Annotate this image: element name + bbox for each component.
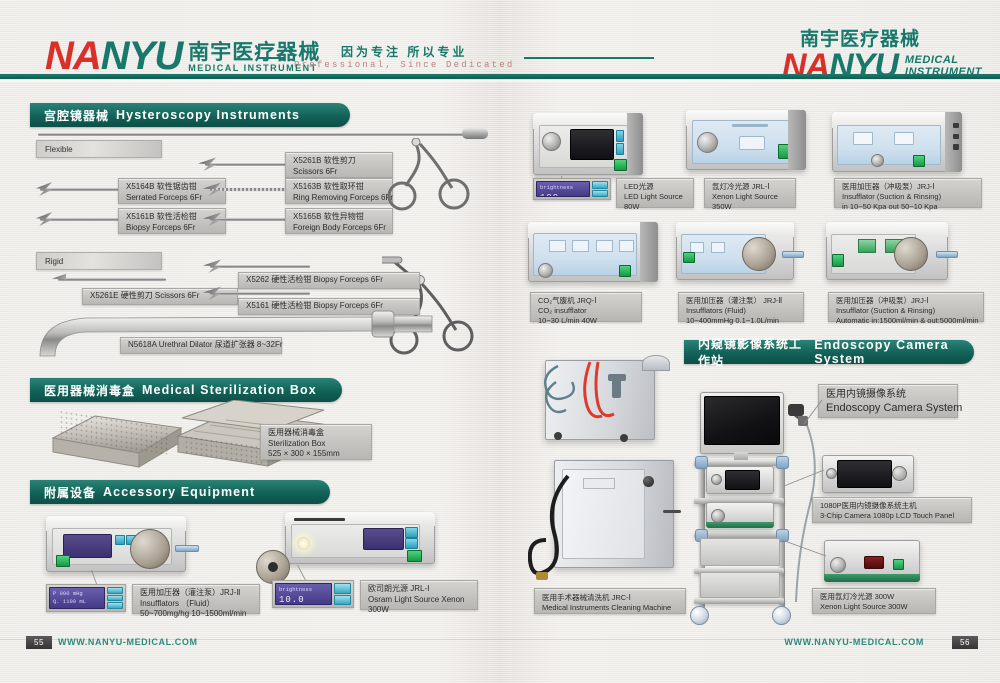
caption-x5262: X5262 硬性活检钳 Biopsy Forceps 6Fr bbox=[238, 272, 420, 289]
cart-caster-left bbox=[690, 606, 709, 625]
cart-empty-shelf-1 bbox=[700, 538, 780, 566]
lcd-line-1: P 000 mHg bbox=[53, 590, 101, 598]
monitor-stand-neck bbox=[734, 452, 748, 460]
caption-sterilization-size: 525 × 300 × 155mm bbox=[268, 449, 364, 460]
caption-cleaning-machine: 医用手术器械清洗机 JRC-Ⅰ Medical Instruments Clea… bbox=[534, 588, 686, 614]
device-button-6 bbox=[616, 143, 625, 155]
lcd-callout-insufflator: P 000 mHg Q. 1100 mL VL 1100 mL bbox=[46, 584, 126, 612]
caption-insuff-suction2-cn: 医用加压器（冲吸泵）JRJ-Ⅰ bbox=[836, 296, 976, 306]
caption-insuff-suction-spec: in 10~50 Kpa out 50~10 Kpa bbox=[842, 202, 974, 212]
co2-readout-4 bbox=[619, 240, 634, 252]
lcd-keys-3[interactable] bbox=[592, 181, 608, 197]
lcd-big-value-1: 10.0 bbox=[279, 594, 328, 605]
caption-x5164b-cn: X5164B 软性锯齿钳 bbox=[126, 182, 218, 193]
caption-osram-cn: 欧司朗光源 JRL-Ⅰ bbox=[368, 584, 470, 595]
device-brand-strip bbox=[294, 518, 345, 521]
slogan-cn: 因为专注 所以专业 bbox=[294, 46, 514, 60]
caption-x5261b-cn: X5261B 软性剪刀 bbox=[293, 156, 385, 167]
caption-xenon-light-source: 氙灯冷光源 JRL-Ⅰ Xenon Light Source 350W bbox=[704, 178, 796, 208]
caption-x5163b-cn: X5163B 软性取环钳 bbox=[293, 182, 385, 193]
device-vent-1 bbox=[953, 123, 960, 128]
device-vent-2 bbox=[953, 134, 960, 139]
brand-en1-right: MEDICAL bbox=[905, 54, 982, 67]
device-power-button-2 bbox=[407, 550, 423, 561]
device-insufflator-suction-2 bbox=[826, 222, 948, 280]
tubing-connector-3 bbox=[936, 251, 958, 258]
section-camera-cn: 内窥镜影像系统工作站 bbox=[698, 335, 807, 369]
slogan-en: Professional, Since Dedicated bbox=[294, 60, 514, 70]
caption-x5163b: X5163B 软性取环钳 Ring Removing Forceps 6Fr bbox=[285, 178, 393, 204]
section-header-accessory: 附属设备 Accessory Equipment bbox=[30, 480, 330, 504]
caption-x5161b-en: Biopsy Forceps 6Fr bbox=[126, 223, 218, 234]
section-sterilization-cn: 医用器械消毒盒 bbox=[44, 382, 135, 399]
caption-insuff-suction-cn: 医用加压器（冲吸泵）JRJ-Ⅰ bbox=[842, 182, 974, 192]
caption-insufflator-fluid-2: 医用加压器（灌注泵） JRJ-Ⅱ Insufflators (Fluid) 10… bbox=[678, 292, 804, 322]
header-rule-highlight bbox=[0, 80, 1000, 82]
device-power-button-3 bbox=[614, 159, 627, 171]
device-screen-2 bbox=[363, 528, 404, 551]
caption-x5161b: X5161B 软性活检钳 Biopsy Forceps 6Fr bbox=[118, 208, 226, 234]
sterilization-box-closed bbox=[45, 410, 185, 472]
slogan-block: 因为专注 所以专业 Professional, Since Dedicated bbox=[258, 46, 654, 70]
lcd-panel-3: brightness 100 bbox=[536, 181, 590, 197]
lcd-panel-1: P 000 mHg Q. 1100 mL VL 1100 mL bbox=[49, 587, 105, 609]
header-rule bbox=[0, 74, 1000, 79]
device-power-button bbox=[56, 555, 71, 567]
adapter-aperture bbox=[268, 562, 278, 572]
device-led-light-source bbox=[533, 113, 643, 175]
caption-cleaning-en: Medical Instruments Cleaning Machine bbox=[542, 603, 678, 613]
caption-x5165b: X5165B 软性异物钳 Foreign Body Forceps 6Fr bbox=[285, 208, 393, 234]
caption-cleaning-cn: 医用手术器械清洗机 JRC-Ⅰ bbox=[542, 593, 678, 603]
section-camera-en: Endoscopy Camera System bbox=[814, 338, 974, 366]
caption-x5164b-en: Serrated Forceps 6Fr bbox=[126, 193, 218, 204]
lcd-callout-osram: brightness 10.0 speed % bbox=[272, 580, 354, 608]
group-label-rigid-text: Rigid bbox=[45, 257, 63, 266]
cart-device-camera-unit bbox=[706, 466, 774, 494]
caption-led-spec: 80W bbox=[624, 202, 686, 212]
lcd-panel-2: brightness 10.0 speed % bbox=[275, 583, 332, 605]
device-power-button-5 bbox=[913, 155, 925, 167]
lcd-callout-led: brightness 100 bbox=[533, 178, 611, 200]
caption-x5261b: X5261B 软性剪刀 Scissors 6Fr bbox=[285, 152, 393, 178]
callout-leader-lines bbox=[780, 400, 980, 620]
co2-readout-3 bbox=[596, 240, 613, 252]
light-guide-adapter bbox=[256, 550, 290, 584]
caption-x5163b-en: Ring Removing Forceps 6Fr bbox=[293, 193, 385, 204]
caption-insufflator-fluid-en: Insufflators （Fluid） bbox=[140, 599, 252, 610]
page-number-left: 55 bbox=[26, 636, 52, 649]
footer-url-right[interactable]: WWW.NANYU-MEDICAL.COM bbox=[784, 637, 924, 647]
catalog-page: NANYU 南宇医疗器械 MEDICAL INSTRUMENT 因为专注 所以专… bbox=[0, 0, 1000, 683]
device-readout-1 bbox=[853, 132, 873, 145]
device-insufflator-suction-1 bbox=[832, 112, 962, 172]
caption-led-cn: LED光源 bbox=[624, 182, 686, 192]
device-screen bbox=[63, 534, 113, 558]
tubing-connector-2 bbox=[782, 251, 804, 258]
cleaning-machine-handle bbox=[663, 510, 681, 513]
instrument-tip-6 bbox=[52, 272, 66, 284]
lcd-big-value-2: 100 bbox=[540, 192, 586, 197]
caption-insufflator-fluid: 医用加压器（灌注泵）JRJ-Ⅱ Insufflators （Fluid） 50~… bbox=[132, 584, 260, 614]
section-accessory-cn: 附属设备 bbox=[44, 484, 96, 501]
device-power-button-6 bbox=[619, 265, 631, 277]
section-sterilization-en: Medical Sterilization Box bbox=[142, 383, 317, 397]
caption-insuff-fluid2-cn: 医用加压器（灌注泵） JRJ-Ⅱ bbox=[686, 296, 796, 306]
caption-led-en: LED Light Source bbox=[624, 192, 686, 202]
cart-empty-shelf-2 bbox=[700, 572, 780, 598]
brand-wordmark-left: NANYU bbox=[45, 36, 182, 76]
device-power-button-8 bbox=[832, 254, 844, 266]
caption-n5618a-text: N5618A Urethral Dilator 尿道扩张器 8~32Fr bbox=[128, 340, 283, 351]
section-accessory-en: Accessory Equipment bbox=[103, 485, 255, 499]
cart-device-green-strip bbox=[706, 522, 774, 528]
light-port-glow bbox=[297, 537, 310, 550]
suction-indicator-1 bbox=[858, 239, 876, 253]
instrument-shaft-3 bbox=[205, 163, 297, 166]
section-header-hysteroscopy: 宫腔镜器械 Hysteroscopy Instruments bbox=[30, 103, 350, 127]
section-hysteroscopy-en: Hysteroscopy Instruments bbox=[116, 108, 300, 122]
page-header: NANYU 南宇医疗器械 MEDICAL INSTRUMENT 因为专注 所以专… bbox=[0, 0, 1000, 80]
cleaning-machine-hoses bbox=[528, 352, 668, 447]
page-number-right: 56 bbox=[952, 636, 978, 649]
lcd-line-2: Q. 1100 mL bbox=[53, 598, 101, 606]
caption-x5161b-cn: X5161B 软性活检钳 bbox=[126, 212, 218, 223]
instrument-shaft-8 bbox=[210, 292, 310, 295]
caption-sterilization-box: 医用器械消毒盒 Sterilization Box 525 × 300 × 15… bbox=[260, 424, 372, 460]
caption-x5261b-en: Scissors 6Fr bbox=[293, 167, 385, 178]
slogan-dash-left bbox=[258, 57, 284, 59]
section-hysteroscopy-cn: 宫腔镜器械 bbox=[44, 107, 109, 124]
section-header-camera-system: 内窥镜影像系统工作站 Endoscopy Camera System bbox=[684, 340, 974, 364]
device-knob-3[interactable] bbox=[871, 154, 884, 167]
caption-insuff-suction2-spec: Automatic in:1500ml/min & out:5000ml/min bbox=[836, 316, 976, 326]
caption-co2-spec: 10~30 L/min 40W bbox=[538, 316, 634, 326]
device-knob-2[interactable] bbox=[697, 132, 718, 153]
lcd-keys-2[interactable] bbox=[334, 583, 351, 605]
device-button-4 bbox=[405, 538, 418, 549]
caption-insuff-suction2-en: Insufflator (Suction & Rinsing) bbox=[836, 306, 976, 316]
device-co2-insufflator bbox=[528, 222, 658, 282]
caption-x5164b: X5164B 软性锯齿钳 Serrated Forceps 6Fr bbox=[118, 178, 226, 204]
scope-shaft bbox=[38, 133, 468, 136]
caption-insufflator-fluid-spec: 50~700mg/hg 10~1500ml/min bbox=[140, 609, 252, 620]
caption-osram-light: 欧司朗光源 JRL-Ⅰ Osram Light Source Xenon 300… bbox=[360, 580, 478, 610]
caption-led-light-source: LED光源 LED Light Source 80W bbox=[616, 178, 694, 208]
tubing-connector bbox=[175, 545, 199, 552]
caption-x5165b-en: Foreign Body Forceps 6Fr bbox=[293, 223, 385, 234]
caption-n5618a: N5618A Urethral Dilator 尿道扩张器 8~32Fr bbox=[120, 337, 282, 354]
co2-readout-1 bbox=[549, 240, 566, 252]
caption-co2-insufflator: CO₂气腹机 JRQ-Ⅰ CO₂ insufflator 10~30 L/min… bbox=[530, 292, 642, 322]
group-label-flexible-text: Flexible bbox=[45, 145, 73, 154]
fluid-readout-1 bbox=[690, 242, 704, 253]
device-osram-light-source bbox=[285, 512, 435, 564]
caption-co2-en: CO₂ insufflator bbox=[538, 306, 634, 316]
device-button-3 bbox=[405, 527, 418, 538]
forceps-handle-illustration-1 bbox=[382, 138, 487, 253]
cart-device-light-source bbox=[706, 502, 774, 528]
device-insufflator-fluid bbox=[46, 516, 186, 572]
caption-x5165b-cn: X5165B 软性异物钳 bbox=[293, 212, 385, 223]
fluid-readout-2 bbox=[711, 242, 725, 253]
device-brand-strip-2 bbox=[732, 124, 768, 127]
device-xenon-light-source bbox=[686, 110, 806, 170]
caption-co2-cn: CO₂气腹机 JRQ-Ⅰ bbox=[538, 296, 634, 306]
device-readout-2 bbox=[894, 132, 914, 145]
device-power-button-7 bbox=[683, 252, 694, 263]
lcd-keys-1[interactable] bbox=[107, 587, 123, 609]
instrument-shaft-7 bbox=[210, 265, 310, 268]
caption-xenon-spec: 350W bbox=[712, 202, 788, 212]
lcd-line-6: brightness bbox=[540, 184, 586, 192]
caption-insuff-fluid2-spec: 10~400mmHg 0.1~1.0L/min bbox=[686, 316, 796, 326]
section-header-sterilization: 医用器械消毒盒 Medical Sterilization Box bbox=[30, 378, 342, 402]
cart-device-screen bbox=[725, 470, 760, 490]
caption-sterilization-cn: 医用器械消毒盒 bbox=[268, 428, 364, 439]
device-button-5 bbox=[616, 130, 625, 142]
lcd-line-3: VL 1100 mL bbox=[53, 607, 101, 610]
device-screen-3 bbox=[570, 129, 614, 160]
caption-xenon-cn: 氙灯冷光源 JRL-Ⅰ bbox=[712, 182, 788, 192]
roller-pump-head-2 bbox=[742, 237, 776, 271]
lcd-line-4: brightness bbox=[279, 586, 328, 594]
device-button-1 bbox=[115, 535, 125, 545]
caption-insuff-fluid2-en: Insufflators (Fluid) bbox=[686, 306, 796, 316]
co2-readout-2 bbox=[572, 240, 589, 252]
device-knob-1[interactable] bbox=[542, 132, 561, 151]
group-label-flexible: Flexible bbox=[36, 140, 162, 158]
slogan-dash-right bbox=[524, 57, 654, 59]
device-vent-3 bbox=[953, 144, 960, 149]
instrument-shaft-6 bbox=[58, 278, 166, 281]
cleaning-machine-black-hose bbox=[528, 468, 648, 588]
footer-url-left[interactable]: WWW.NANYU-MEDICAL.COM bbox=[58, 637, 198, 647]
caption-x5262-text: X5262 硬性活检钳 Biopsy Forceps 6Fr bbox=[246, 275, 383, 286]
caption-insufflator-suction-1: 医用加压器（冲吸泵）JRJ-Ⅰ Insufflator (Suction & R… bbox=[834, 178, 982, 208]
caption-insuff-suction-en: Insufflator (Suction & Rinsing) bbox=[842, 192, 974, 202]
group-label-rigid: Rigid bbox=[36, 252, 162, 270]
caption-insufflator-fluid-cn: 医用加压器（灌注泵）JRJ-Ⅱ bbox=[140, 588, 252, 599]
caption-insufflator-suction-2: 医用加压器（冲吸泵）JRJ-Ⅰ Insufflator (Suction & R… bbox=[828, 292, 984, 322]
caption-xenon-en: Xenon Light Source bbox=[712, 192, 788, 202]
caption-osram-en: Osram Light Source Xenon bbox=[368, 595, 470, 606]
device-insufflator-fluid-2 bbox=[676, 222, 794, 280]
device-display-panel bbox=[739, 136, 765, 150]
caption-sterilization-en: Sterilization Box bbox=[268, 439, 364, 450]
caption-osram-spec: 300W bbox=[368, 605, 470, 616]
